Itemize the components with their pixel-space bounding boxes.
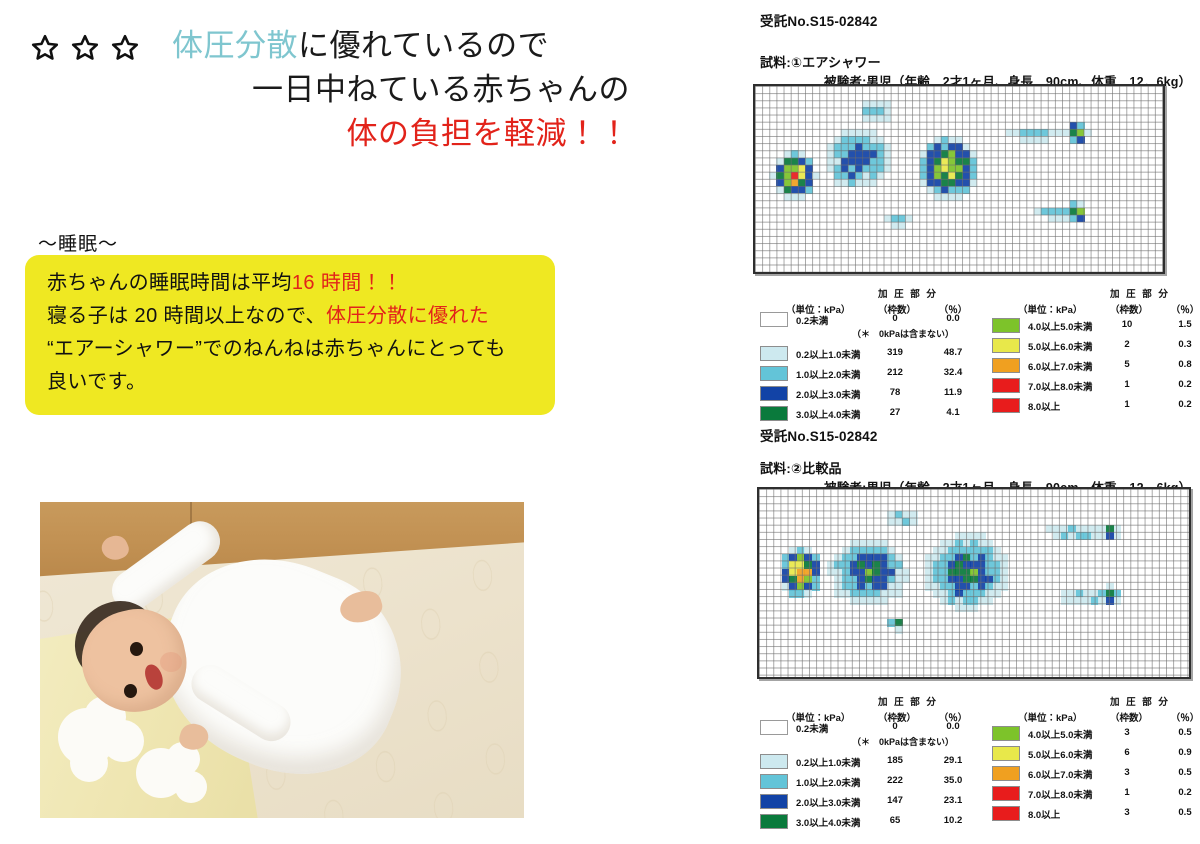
- headline-line-1: 体圧分散に優れているので: [30, 24, 630, 68]
- legend-2-label-left-3: 3.0以上4.0未満: [796, 815, 860, 829]
- legend-1-row-left-3: [760, 407, 788, 420]
- legend-2-count-right-1: 6: [1110, 747, 1144, 758]
- legend-2-swatch-right-3: [992, 786, 1020, 801]
- legend-2-swatch-left-0: [760, 754, 788, 769]
- legend-2-label-left-2: 2.0以上3.0未満: [796, 795, 860, 809]
- report-2-sample-text: 試料:②比較品: [760, 458, 842, 477]
- legend-1-label-right-4: 8.0以上: [1028, 399, 1060, 413]
- legend-1-pct-left-1: 32.4: [936, 367, 970, 378]
- sleep-callout-text: 赤ちゃんの睡眠時間は平均16 時間！！ 寝る子は 20 時間以上なので、体圧分散…: [47, 267, 545, 399]
- legend-2-label-right-2: 6.0以上7.0未満: [1028, 767, 1092, 781]
- legend-1-swatch-left-3: [760, 406, 788, 421]
- legend-2-label-left-1: 1.0以上2.0未満: [796, 775, 860, 789]
- legend-1-pct-right-2: 0.8: [1168, 359, 1200, 370]
- star-icon: [70, 31, 100, 61]
- legend-1-row-right-3: [992, 379, 1020, 392]
- legend-2-count-left-2: 147: [878, 795, 912, 806]
- legend-1-label-right-3: 7.0以上8.0未満: [1028, 379, 1092, 393]
- legend-1-count-left-2: 78: [878, 387, 912, 398]
- legend-2-pct-right-2: 0.5: [1168, 767, 1200, 778]
- legend-1-pct-left-0: 48.7: [936, 347, 970, 358]
- legend-2-pct-left-2: 23.1: [936, 795, 970, 806]
- pressure-map-2: [757, 487, 1191, 679]
- legend-1-count-right-4: 1: [1110, 399, 1144, 410]
- sleep-line-1b: 16 時間！！: [292, 272, 403, 294]
- legend-1-pct-right-4: 0.2: [1168, 399, 1200, 410]
- legend-1-pct-zero: 0.0: [936, 313, 970, 324]
- legend-1-row-right-1: [992, 339, 1020, 352]
- legend-2-count-header-right: （枠数）: [1110, 710, 1144, 724]
- legend-1: 加 圧 部 分（単位：kPa）（枠数）（％）加 圧 部 分（単位：kPa）（枠数…: [760, 286, 1180, 416]
- legend-2-row-left-0: [760, 755, 788, 768]
- sleep-line-3: “エアーシャワー”でのねんねは赤ちゃんにとっても: [47, 333, 545, 366]
- sleep-line-1: 赤ちゃんの睡眠時間は平均16 時間！！: [47, 267, 545, 300]
- legend-2-row-right-1: [992, 747, 1020, 760]
- legend-1-swatch-right-0: [992, 318, 1020, 333]
- legend-2-pct-right-0: 0.5: [1168, 727, 1200, 738]
- legend-1-count-left-0: 319: [878, 347, 912, 358]
- legend-1-row-right-4: [992, 399, 1020, 412]
- legend-1-count-right-0: 10: [1110, 319, 1144, 330]
- legend-2-pct-zero: 0.0: [936, 721, 970, 732]
- legend-1-swatch-left-0: [760, 346, 788, 361]
- legend-1-swatch-right-1: [992, 338, 1020, 353]
- legend-2-label-left-0: 0.2以上1.0未満: [796, 755, 860, 769]
- legend-1-pct-right-1: 0.3: [1168, 339, 1200, 350]
- photo-flower-motif: [58, 708, 116, 766]
- report-2-order-no-text: 受託No.S15-02842: [760, 425, 878, 445]
- legend-1-pressure-header-right: 加 圧 部 分: [1110, 286, 1170, 300]
- pressure-map-2-grid: [759, 489, 1189, 677]
- headline-highlight: 体圧分散: [172, 24, 298, 68]
- legend-2-swatch-left-2: [760, 794, 788, 809]
- headline-block: 体圧分散に優れているので 一日中ねている赤ちゃんの 体の負担を軽減！！: [30, 24, 630, 156]
- report-1-order-no-text: 受託No.S15-02842: [760, 10, 878, 30]
- legend-1-label-left-1: 1.0以上2.0未満: [796, 367, 860, 381]
- legend-1-unit-header-right: （単位：kPa）: [1018, 302, 1082, 316]
- legend-1-swatch-left-2: [760, 386, 788, 401]
- sleep-line-2: 寝る子は 20 時間以上なので、体圧分散に優れた: [47, 300, 545, 333]
- legend-2-pressure-header-right: 加 圧 部 分: [1110, 694, 1170, 708]
- legend-2-row-right-4: [992, 807, 1020, 820]
- legend-1-count-header-right: （枠数）: [1110, 302, 1144, 316]
- photo-baby-eye: [130, 642, 143, 656]
- pressure-map-1: [753, 84, 1165, 274]
- legend-2-swatch-right-2: [992, 766, 1020, 781]
- legend-2-count-left-0: 185: [878, 755, 912, 766]
- legend-2-row-right-0: [992, 727, 1020, 740]
- legend-2-label-right-1: 5.0以上6.0未満: [1028, 747, 1092, 761]
- report-1-sample-text: 試料:①エアシャワー: [760, 52, 881, 71]
- report-2-order-no: 受託No.S15-02842: [760, 425, 878, 445]
- legend-2: 加 圧 部 分（単位：kPa）（枠数）（％）加 圧 部 分（単位：kPa）（枠数…: [760, 694, 1180, 828]
- headline-line-3-row: 体の負担を軽減！！: [30, 112, 630, 156]
- legend-2-swatch-right-4: [992, 806, 1020, 821]
- legend-2-pressure-header-left: 加 圧 部 分: [878, 694, 938, 708]
- poster-page: 体圧分散に優れているので 一日中ねている赤ちゃんの 体の負担を軽減！！ ～睡眠～…: [0, 0, 1200, 844]
- star-icon: [30, 31, 60, 61]
- legend-2-row-left-1: [760, 775, 788, 788]
- legend-2-row-zero: [760, 721, 788, 734]
- legend-1-swatch-right-2: [992, 358, 1020, 373]
- report-2-sample: 試料:②比較品: [760, 458, 842, 477]
- legend-1-label-left-3: 3.0以上4.0未満: [796, 407, 860, 421]
- legend-1-count-left-1: 212: [878, 367, 912, 378]
- legend-1-count-right-2: 5: [1110, 359, 1144, 370]
- legend-1-pct-left-2: 11.9: [936, 387, 970, 398]
- legend-1-label-right-1: 5.0以上6.0未満: [1028, 339, 1092, 353]
- legend-1-row-left-1: [760, 367, 788, 380]
- legend-2-swatch-zero: [760, 720, 788, 735]
- legend-1-count-right-1: 2: [1110, 339, 1144, 350]
- report-1-sample: 試料:①エアシャワー: [760, 52, 881, 71]
- legend-2-label-zero: 0.2未満: [796, 721, 828, 735]
- legend-2-row-left-2: [760, 795, 788, 808]
- sleep-line-2a: 寝る子は 20 時間以上なので、: [47, 305, 326, 327]
- legend-2-row-right-2: [992, 767, 1020, 780]
- legend-1-label-left-0: 0.2以上1.0未満: [796, 347, 860, 361]
- legend-1-pct-right-0: 1.5: [1168, 319, 1200, 330]
- headline-line-2-row: 一日中ねている赤ちゃんの: [30, 68, 630, 112]
- legend-2-note: （＊ 0kPaは含まない）: [852, 735, 954, 748]
- photo-baby-cheek: [160, 652, 182, 672]
- legend-1-pct-header-right: （％）: [1168, 302, 1200, 316]
- legend-1-swatch-zero: [760, 312, 788, 327]
- legend-2-count-right-0: 3: [1110, 727, 1144, 738]
- legend-1-note: （＊ 0kPaは含まない）: [852, 327, 954, 340]
- photo-flower-motif: [136, 748, 186, 798]
- sleep-line-2b: 体圧分散に優れた: [326, 305, 489, 327]
- legend-2-pct-left-3: 10.2: [936, 815, 970, 826]
- legend-1-pressure-header-left: 加 圧 部 分: [878, 286, 938, 300]
- legend-1-row-left-0: [760, 347, 788, 360]
- legend-2-label-right-3: 7.0以上8.0未満: [1028, 787, 1092, 801]
- legend-2-row-left-3: [760, 815, 788, 828]
- legend-2-label-right-4: 8.0以上: [1028, 807, 1060, 821]
- photo-baby-eye: [124, 684, 137, 698]
- legend-1-row-right-0: [992, 319, 1020, 332]
- legend-1-pct-right-3: 0.2: [1168, 379, 1200, 390]
- legend-1-pct-left-3: 4.1: [936, 407, 970, 418]
- star-rating: [30, 31, 140, 61]
- legend-2-pct-right-4: 0.5: [1168, 807, 1200, 818]
- legend-2-pct-left-1: 35.0: [936, 775, 970, 786]
- legend-2-row-right-3: [992, 787, 1020, 800]
- legend-2-pct-right-1: 0.9: [1168, 747, 1200, 758]
- legend-2-swatch-right-1: [992, 746, 1020, 761]
- legend-2-count-right-3: 1: [1110, 787, 1144, 798]
- legend-1-swatch-right-3: [992, 378, 1020, 393]
- legend-2-unit-header-right: （単位：kPa）: [1018, 710, 1082, 724]
- legend-1-label-zero: 0.2未満: [796, 313, 828, 327]
- legend-1-row-zero: [760, 313, 788, 326]
- sleep-line-4: 良いです。: [47, 366, 545, 399]
- legend-2-count-left-1: 222: [878, 775, 912, 786]
- sleep-section-label: ～睡眠～: [38, 229, 118, 256]
- legend-2-swatch-right-0: [992, 726, 1020, 741]
- sleep-line-1a: 赤ちゃんの睡眠時間は平均: [47, 272, 292, 294]
- legend-2-count-left-3: 65: [878, 815, 912, 826]
- legend-2-swatch-left-1: [760, 774, 788, 789]
- legend-2-count-right-2: 3: [1110, 767, 1144, 778]
- legend-2-pct-left-0: 29.1: [936, 755, 970, 766]
- legend-1-label-right-2: 6.0以上7.0未満: [1028, 359, 1092, 373]
- headline-line1-rest: に優れているので: [298, 24, 549, 68]
- legend-1-label-left-2: 2.0以上3.0未満: [796, 387, 860, 401]
- baby-photo: [40, 502, 524, 818]
- headline-line-3: 体の負担を軽減！！: [347, 112, 631, 156]
- legend-2-count-zero: 0: [878, 721, 912, 732]
- legend-2-pct-right-3: 0.2: [1168, 787, 1200, 798]
- legend-1-count-right-3: 1: [1110, 379, 1144, 390]
- legend-1-label-right-0: 4.0以上5.0未満: [1028, 319, 1092, 333]
- star-icon: [110, 31, 140, 61]
- report-1-order-no: 受託No.S15-02842: [760, 10, 878, 30]
- headline-line-2: 一日中ねている赤ちゃんの: [252, 68, 630, 112]
- pressure-map-1-grid: [755, 86, 1163, 272]
- legend-2-swatch-left-3: [760, 814, 788, 829]
- legend-2-label-right-0: 4.0以上5.0未満: [1028, 727, 1092, 741]
- legend-1-count-zero: 0: [878, 313, 912, 324]
- sleep-callout-box: 赤ちゃんの睡眠時間は平均16 時間！！ 寝る子は 20 時間以上なので、体圧分散…: [25, 255, 555, 415]
- legend-2-pct-header-right: （％）: [1168, 710, 1200, 724]
- legend-1-count-left-3: 27: [878, 407, 912, 418]
- legend-2-count-right-4: 3: [1110, 807, 1144, 818]
- legend-1-swatch-left-1: [760, 366, 788, 381]
- legend-1-row-right-2: [992, 359, 1020, 372]
- legend-1-swatch-right-4: [992, 398, 1020, 413]
- legend-1-row-left-2: [760, 387, 788, 400]
